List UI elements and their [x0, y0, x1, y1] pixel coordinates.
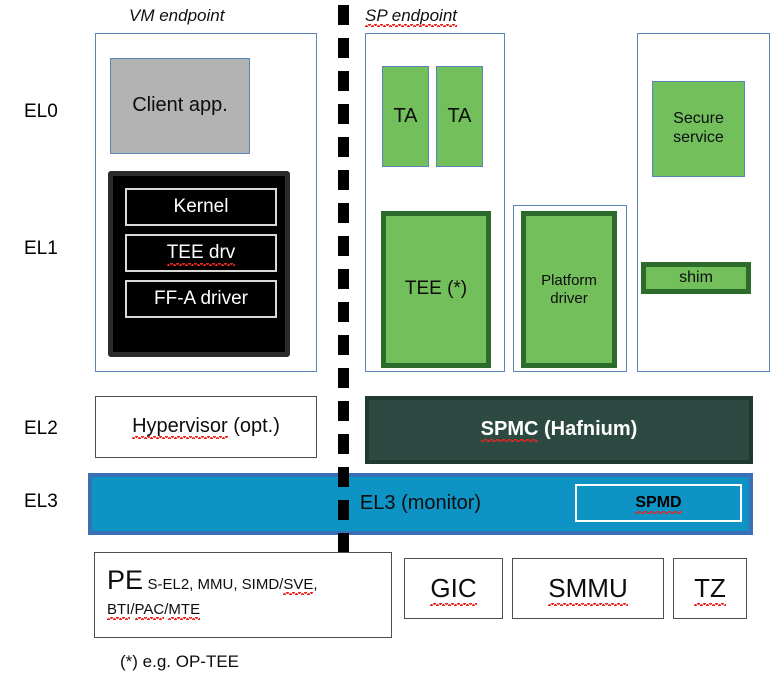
hypervisor-box: Hypervisor (opt.) [95, 396, 317, 458]
spmc-box: SPMC (Hafnium) [365, 396, 753, 464]
spmd-box: SPMD [575, 484, 742, 522]
client-app-label: Client app. [132, 94, 228, 118]
el-label-el2: EL2 [24, 418, 58, 440]
trusted-app-label-2: TA [447, 105, 471, 129]
vm-kernel-stack: Kernel TEE drv FF-A driver [108, 171, 290, 357]
secure-boundary-divider [338, 5, 349, 553]
vm-endpoint-title-text: VM endpoint [129, 6, 224, 25]
spmd-label: SPMD [635, 494, 681, 513]
el-label-el1: EL1 [24, 238, 58, 260]
el3-monitor-label: EL3 (monitor) [360, 492, 481, 516]
hypervisor-label-suffix: (opt.) [228, 415, 280, 437]
tee-box: TEE (*) [381, 211, 491, 368]
hardware-tz-box: TZ [673, 558, 747, 619]
ffa-driver-box: FF-A driver [125, 280, 277, 318]
hardware-gic-box: GIC [404, 558, 503, 619]
shim-box: shim [641, 262, 751, 294]
shim-label: shim [679, 269, 713, 288]
secure-service-label: Secureservice [673, 110, 724, 148]
client-app-box: Client app. [110, 58, 250, 154]
tee-label: TEE (*) [405, 278, 467, 300]
secure-service-box: Secureservice [652, 81, 745, 177]
trusted-app-box-2: TA [436, 66, 483, 167]
hardware-smmu-box: SMMU [512, 558, 664, 619]
hardware-smmu-label: SMMU [548, 573, 627, 604]
spmc-label-suffix: (Hafnium) [538, 418, 637, 440]
hardware-pe-box: PE S-EL2, MMU, SIMD/SVE,BTI/PAC/MTE [94, 552, 392, 638]
spmc-label-primary: SPMC [481, 418, 539, 440]
sp-endpoint-title-text: SP endpoint [365, 6, 457, 25]
platform-driver-box: Platformdriver [521, 211, 617, 368]
platform-driver-label: Platformdriver [541, 272, 597, 307]
footnote: (*) e.g. OP-TEE [120, 652, 239, 672]
kernel-box: Kernel [125, 188, 277, 226]
hypervisor-label-primary: Hypervisor [132, 415, 228, 437]
trusted-app-label-1: TA [393, 105, 417, 129]
el-label-el0: EL0 [24, 101, 58, 123]
hardware-gic-label: GIC [430, 573, 476, 604]
sp-endpoint-title: SP endpoint [365, 6, 457, 26]
tee-drv-box: TEE drv [125, 234, 277, 272]
vm-endpoint-title: VM endpoint [129, 6, 224, 26]
ffa-driver-label: FF-A driver [154, 288, 248, 310]
tee-drv-label: TEE drv [167, 242, 236, 264]
diagram-canvas: VM endpoint SP endpoint EL0 EL1 EL2 EL3 … [0, 0, 784, 686]
kernel-label: Kernel [174, 196, 229, 218]
hardware-tz-label: TZ [694, 573, 726, 604]
trusted-app-box-1: TA [382, 66, 429, 167]
el-label-el3: EL3 [24, 491, 58, 513]
hardware-pe-name: PE [107, 565, 143, 595]
